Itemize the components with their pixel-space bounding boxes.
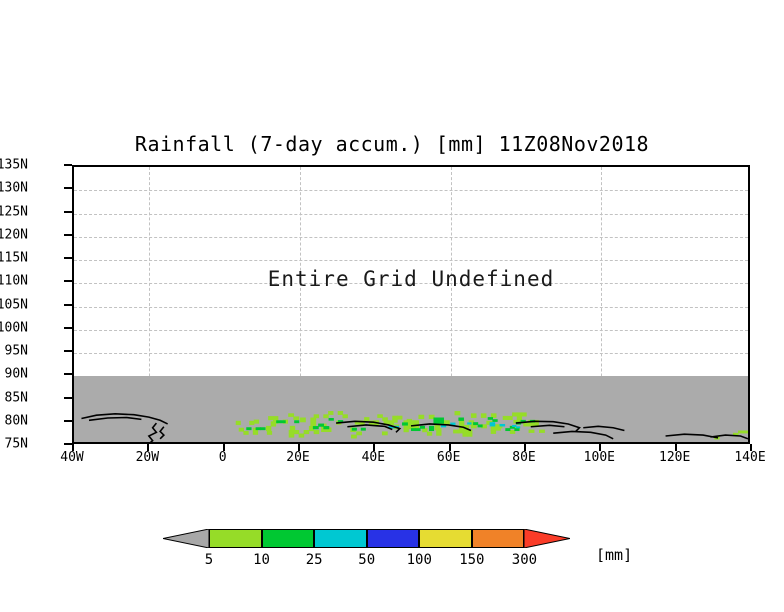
rain-cell [458,430,463,434]
colorbar-tick-label: 100 [407,552,432,568]
rain-cell [512,425,516,427]
rain-cell [471,413,477,418]
x-tick-mark [72,444,74,451]
y-tick-mark [64,350,72,352]
rain-cell [397,416,402,420]
rain-cell [743,431,748,434]
rain-cell [323,414,328,418]
y-tick-label: 130N [0,181,28,196]
chart-title: Rainfall (7-day accum.) [mm] 11Z08Nov201… [0,132,784,156]
rain-cell [490,424,496,426]
rain-cell [516,426,520,428]
rain-cell [512,412,517,416]
coastline [160,427,164,439]
rain-cell [517,416,522,420]
coastline [583,426,624,430]
colorbar-tick-label: 50 [358,552,375,568]
coastline [666,434,718,438]
y-tick-label: 80N [5,413,28,428]
rain-cell [738,431,744,434]
rain-cell [492,419,497,422]
rain-cell [455,411,461,415]
y-tick-mark [64,187,72,189]
rain-cell [294,430,300,434]
y-tick-mark [64,327,72,329]
rain-cell [377,414,383,418]
rain-cell [382,431,388,435]
x-tick-mark [449,444,451,451]
rain-cell [323,426,329,429]
rain-cell [328,411,333,415]
rain-cell [505,428,510,431]
rain-cell [243,431,248,435]
rain-cell [467,433,472,437]
rain-cell [268,416,273,420]
rain-cell [427,432,432,436]
coastline [553,431,613,438]
rain-cell [521,412,526,416]
map-canvas: Entire Grid Undefined [74,167,748,442]
rain-cell [352,428,357,431]
y-tick-mark [64,420,72,422]
rain-cell [300,418,306,423]
rain-cell [271,421,276,426]
y-tick-mark [64,234,72,236]
rain-cell [239,428,244,432]
rain-cell [260,427,265,430]
x-tick-label: 20E [286,450,309,465]
colorbar-over-cap [524,529,570,548]
rain-cell [304,430,310,434]
x-tick-mark [147,444,149,451]
y-tick-mark [64,304,72,306]
rain-cell [429,428,434,431]
rain-cell [342,414,347,418]
rain-cell [539,430,545,433]
colorbar-under-cap [163,529,209,548]
colorbar-tick-label: 150 [459,552,484,568]
y-tick-label: 100N [0,320,28,335]
colorbar-segment [472,529,525,548]
colorbar-segment [209,529,262,548]
rain-cell [523,423,529,427]
rain-cell [488,417,493,420]
rain-cell [420,426,425,429]
rain-cell [310,418,316,423]
x-tick-label: 120E [659,450,690,465]
y-tick-label: 105N [0,297,28,312]
colorbar-unit-label: [mm] [596,546,632,564]
colorbar: 5102550100150300 [163,524,623,552]
rain-cell [481,413,487,418]
y-tick-label: 90N [5,367,28,382]
x-tick-label: 20W [136,450,159,465]
rain-cell [435,425,440,430]
rain-cell [404,428,409,432]
y-tick-label: 95N [5,344,28,359]
map-plot-area: Entire Grid Undefined [72,165,750,444]
y-tick-mark [64,443,72,445]
rain-cell [364,417,369,421]
rain-cell [294,420,299,423]
rain-cell [288,413,294,417]
rain-cell [459,420,464,425]
rain-cell [407,419,412,423]
y-tick-label: 75N [5,437,28,452]
y-tick-label: 110N [0,274,28,289]
rain-cell [418,415,424,419]
rain-cell [356,431,362,435]
rain-cell [453,430,458,434]
colorbar-tick-label: 10 [253,552,270,568]
colorbar-tick-label: 300 [512,552,537,568]
rain-cell [514,428,519,431]
rain-cell [473,422,478,425]
colorbar-tick-label: 25 [306,552,323,568]
x-tick-label: 40W [60,450,83,465]
rain-cell [495,427,500,431]
rain-cell [517,412,522,416]
rain-cell [507,416,512,420]
y-tick-label: 115N [0,251,28,266]
x-tick-label: 0 [219,450,227,465]
rain-cell [500,424,506,426]
colorbar-segment [262,529,315,548]
x-tick-mark [298,444,300,451]
rain-cell [361,428,366,431]
y-tick-mark [64,397,72,399]
x-tick-label: 60E [437,450,460,465]
y-tick-mark [64,211,72,213]
rain-cell [462,433,467,437]
rain-cell [314,430,320,434]
rain-cell [236,421,241,425]
rain-cell [289,430,295,434]
colorbar-segment [367,529,420,548]
undefined-grid-message: Entire Grid Undefined [74,267,748,291]
rain-cell [338,411,343,415]
rain-cell [253,431,258,435]
x-tick-mark [675,444,677,451]
rain-cell [267,431,272,435]
coastline [149,423,157,442]
x-tick-mark [599,444,601,451]
y-tick-mark [64,373,72,375]
rain-cell [436,432,441,436]
rain-cell [273,416,278,420]
y-tick-label: 120N [0,227,28,242]
rain-cell [256,427,261,430]
x-tick-label: 140E [734,450,765,465]
y-tick-label: 135N [0,158,28,173]
x-tick-label: 80E [512,450,535,465]
rain-cell [254,420,259,424]
colorbar-tick-label: 5 [205,552,213,568]
rain-cell [310,422,316,427]
rain-cell [503,416,508,420]
rain-cell [467,422,471,424]
rain-cell [313,426,319,429]
rain-cell [402,422,408,425]
rain-cell [438,420,444,423]
y-tick-label: 125N [0,204,28,219]
rain-cell [458,418,464,421]
x-tick-mark [223,444,225,451]
x-tick-label: 100E [584,450,615,465]
rain-cell [329,418,334,421]
colorbar-segment [419,529,472,548]
colorbar-segment [314,529,367,548]
rainfall-raster [74,167,748,442]
rain-cell [529,430,535,433]
y-tick-mark [64,257,72,259]
x-tick-label: 40E [362,450,385,465]
rain-cell [422,428,427,432]
x-tick-mark [373,444,375,451]
y-tick-mark [64,164,72,166]
rain-cell [433,420,439,423]
rain-cell [411,428,416,431]
rain-cell [392,419,397,423]
rain-cell [491,430,496,434]
rain-cell [246,427,251,430]
rain-cell [266,426,271,431]
rain-cell [314,414,319,418]
rain-cell [276,420,281,423]
rain-cell [318,424,324,427]
x-tick-mark [524,444,526,451]
y-tick-mark [64,280,72,282]
coastline [89,418,141,421]
rain-cell [289,434,295,438]
rain-cell [351,435,357,439]
rain-cell [478,424,483,427]
rain-cell [415,428,420,431]
rain-cell [249,421,254,425]
y-tick-label: 85N [5,390,28,405]
x-tick-mark [750,444,752,451]
rain-cell [281,420,286,423]
rain-cell [299,434,305,438]
rain-cell [293,416,299,420]
